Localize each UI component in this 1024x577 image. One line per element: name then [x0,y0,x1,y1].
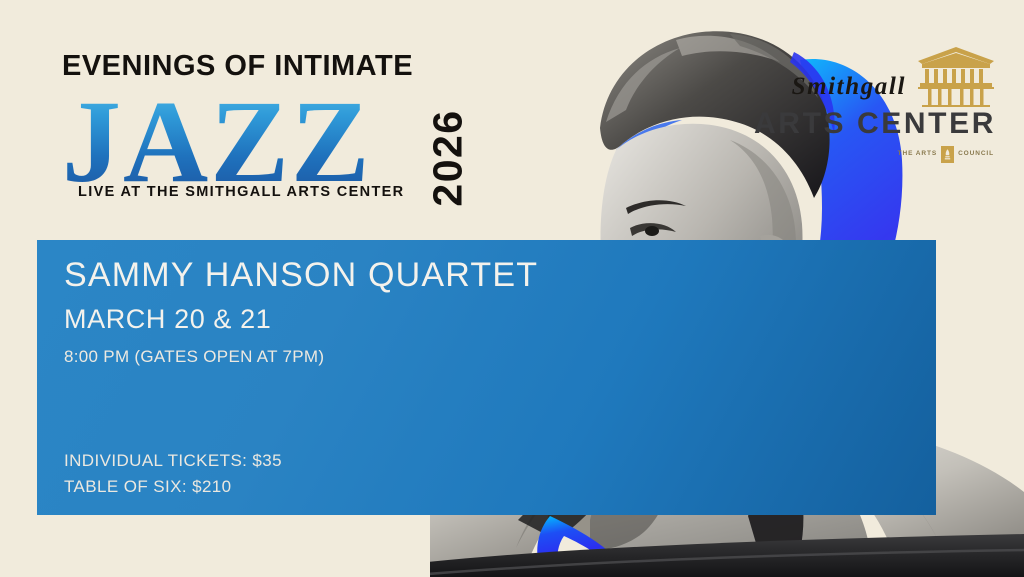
title-main-row: JAZZ 2026 [62,83,413,188]
price-line-table: TABLE OF SIX: $210 [64,474,282,500]
price-line-individual: INDIVIDUAL TICKETS: $35 [64,448,282,474]
council-text-left: THE ARTS [898,151,937,158]
event-details-text: SAMMY HANSON QUARTET MARCH 20 & 21 8:00 … [64,258,584,367]
title-jazz-wordmark: JAZZ [62,83,372,201]
smithgall-logo: Smithgall [754,45,996,163]
event-headline: SAMMY HANSON QUARTET [64,258,584,294]
title-year-wrap: 2026 [426,83,470,233]
ticket-pricing: INDIVIDUAL TICKETS: $35 TABLE OF SIX: $2… [64,448,282,501]
council-text-right: COUNCIL [958,151,994,158]
logo-venue-name: ARTS CENTER [754,109,996,139]
event-dates: MARCH 20 & 21 [64,305,584,333]
arts-council-mark-icon [941,146,954,163]
title-lockup: EVENINGS OF INTIMATE JAZZ 2026 LIVE AT T… [62,52,413,200]
event-time: 8:00 PM (GATES OPEN AT 7PM) [64,347,584,367]
event-poster: SAMMY HANSON QUARTET MARCH 20 & 21 8:00 … [0,0,1024,577]
pavilion-building-icon [916,45,996,107]
title-year: 2026 [428,109,469,206]
logo-top-row: Smithgall [754,45,996,107]
arts-council-lockup: THE ARTS COUNCIL [754,146,994,163]
logo-script-name: Smithgall [792,74,906,107]
